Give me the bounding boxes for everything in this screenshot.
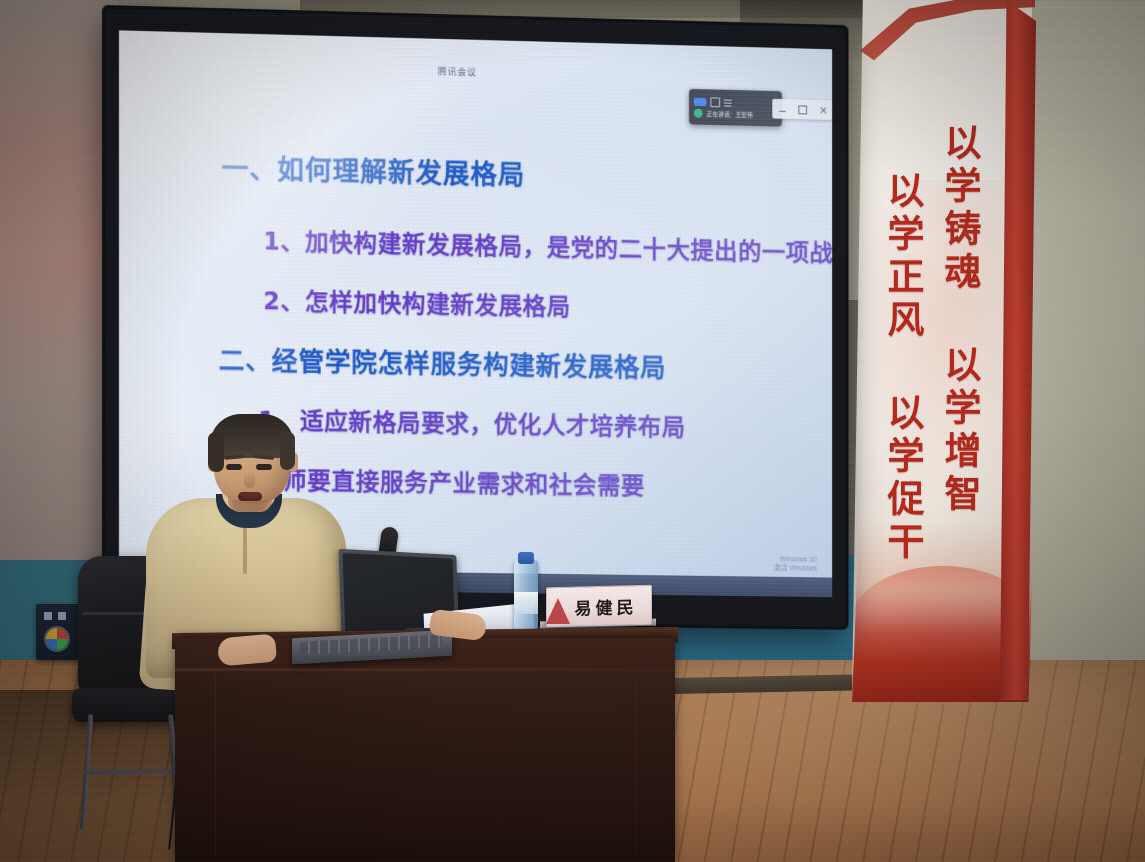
speaker-nose xyxy=(244,472,255,488)
lecture-hall-photo: 以学铸魂 以学增智 以学正风 以学促干 腾讯会议 一、如何理解新发展格局 1、加… xyxy=(0,0,1145,862)
nameplate-red-mark xyxy=(546,598,570,624)
watermark-line-2: 激活 Windows xyxy=(774,564,817,573)
active-speaker-label: 正在讲话：王宏伟 xyxy=(706,109,753,119)
close-icon[interactable] xyxy=(819,106,826,113)
windows-activation-watermark: Windows 10 激活 Windows xyxy=(774,555,817,573)
slide-line-sub-1-2: 2、怎样加快构建新发展格局 xyxy=(263,281,570,322)
participants-icon[interactable] xyxy=(724,98,732,106)
speaker-hair-side-right xyxy=(280,432,295,470)
active-speaker-row: 正在讲话：王宏伟 xyxy=(694,108,777,119)
podium-seam xyxy=(175,668,675,671)
nameplate-text: 易健民 xyxy=(561,593,638,620)
speaker-eye-right xyxy=(256,464,272,470)
speaker-eye-left xyxy=(226,464,242,470)
meeting-toolbar-icons xyxy=(694,96,777,108)
speaker-left-hand xyxy=(217,634,277,667)
speaker-hair-side-left xyxy=(208,432,224,472)
windows-logo-icon xyxy=(46,628,68,650)
slide-line-sub-2-2: 教师要直接服务产业需求和社会需要 xyxy=(258,460,645,501)
avatar xyxy=(694,108,703,117)
minimize-icon[interactable] xyxy=(779,106,786,111)
slide-line-heading-2: 二、经管学院怎样服务构建新发展格局 xyxy=(219,340,667,385)
bottle-label xyxy=(514,592,538,614)
window-controls[interactable] xyxy=(772,99,832,120)
meeting-toolbar[interactable]: 正在讲话：王宏伟 xyxy=(689,89,782,127)
monitor-icon-1 xyxy=(44,612,52,620)
screen-share-icon[interactable] xyxy=(710,97,720,107)
slide-line-heading-1: 一、如何理解新发展格局 xyxy=(222,147,526,193)
slide-line-sub-1-1: 1、加快构建新发展格局，是党的二十大提出的一项战略任务 xyxy=(263,221,832,269)
maximize-icon[interactable] xyxy=(798,105,807,114)
banner-column-left: 以学正风 以学促干 xyxy=(868,148,922,588)
shirt-placket xyxy=(243,520,247,574)
bottle-cap xyxy=(518,552,534,564)
podium-front-panel xyxy=(215,676,637,856)
slide-line-sub-2-1: 1、适应新格局要求，优化人才培养布局 xyxy=(258,401,685,443)
video-icon[interactable] xyxy=(694,97,707,105)
banner-column-right: 以学铸魂 以学增智 xyxy=(925,100,979,540)
monitor-icon-2 xyxy=(58,612,66,620)
